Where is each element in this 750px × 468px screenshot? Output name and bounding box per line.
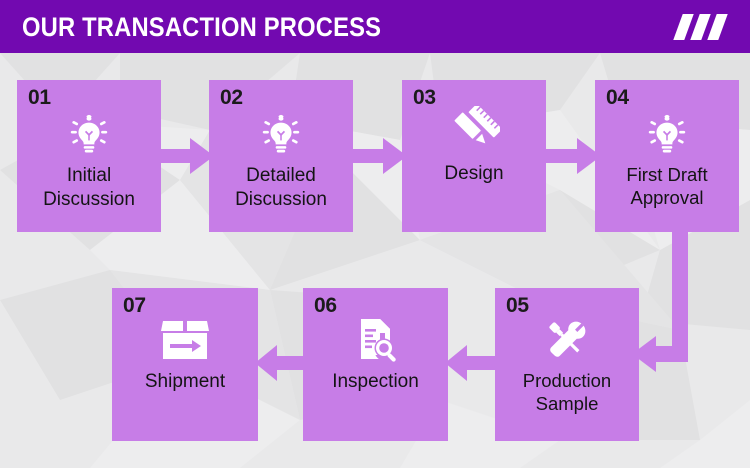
page-title: OUR TRANSACTION PROCESS xyxy=(22,12,381,43)
lightbulb-icon xyxy=(209,110,353,162)
step-card-03[interactable]: 03 xyxy=(402,80,546,232)
package-box-icon xyxy=(112,314,258,366)
step-card-02[interactable]: 02 xyxy=(209,80,353,232)
step-number: 04 xyxy=(606,86,629,110)
arrow-02-to-03 xyxy=(351,138,407,174)
arrow-05-to-06 xyxy=(445,345,499,381)
step-card-01[interactable]: 01 xyxy=(17,80,161,232)
ruler-pencil-icon xyxy=(402,104,546,160)
step-card-04[interactable]: 04 xyxy=(595,80,739,232)
step-label: First DraftApproval xyxy=(599,164,735,210)
step-label: ProductionSample xyxy=(499,370,635,416)
lightbulb-icon xyxy=(595,110,739,162)
step-label: Shipment xyxy=(116,370,254,394)
arrow-03-to-04 xyxy=(545,138,601,174)
step-card-07[interactable]: 07 Shipment xyxy=(112,288,258,441)
lightbulb-icon xyxy=(17,110,161,162)
document-search-icon xyxy=(303,312,448,368)
step-label: InitialDiscussion xyxy=(21,164,157,211)
arrow-01-to-02 xyxy=(158,138,214,174)
step-card-06[interactable]: 06 xyxy=(303,288,448,441)
step-label: Design xyxy=(406,162,542,186)
arrow-06-to-07 xyxy=(255,345,309,381)
step-number: 01 xyxy=(28,86,51,110)
step-number: 02 xyxy=(220,86,243,110)
step-label: DetailedDiscussion xyxy=(213,164,349,211)
elbow-04-to-05 xyxy=(630,228,710,380)
header-bar: OUR TRANSACTION PROCESS xyxy=(0,0,750,53)
step-card-05[interactable]: 05 ProductionSam xyxy=(495,288,639,441)
step-label: Inspection xyxy=(307,370,444,394)
three-slash-logo-icon xyxy=(676,14,732,40)
infographic-canvas: OUR TRANSACTION PROCESS 01 xyxy=(0,0,750,468)
wrench-screwdriver-icon xyxy=(495,312,639,368)
